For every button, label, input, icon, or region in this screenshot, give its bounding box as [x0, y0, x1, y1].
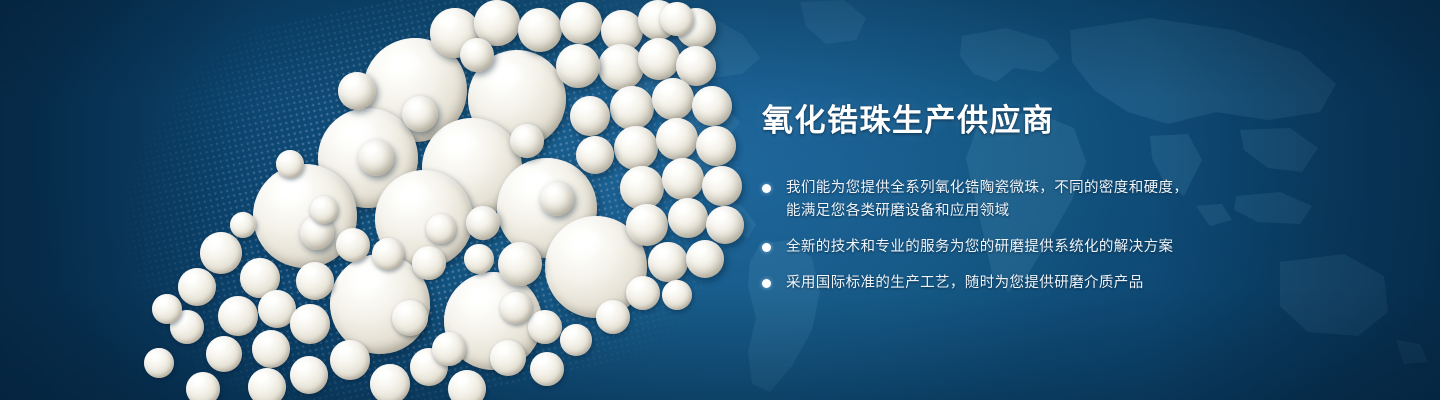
bullet-dot-icon	[762, 184, 771, 193]
feature-bullet-list: 我们能为您提供全系列氧化锆陶瓷微珠，不同的密度和硬度， 能满足您各类研磨设备和应…	[762, 177, 1362, 295]
feature-bullet-line-1: 全新的技术和专业的服务为您的研磨提供系统化的解决方案	[786, 239, 1173, 255]
feature-bullet-item: 采用国际标准的生产工艺，随时为您提供研磨介质产品	[762, 272, 1362, 295]
bullet-dot-icon	[762, 279, 771, 288]
feature-bullet-item: 我们能为您提供全系列氧化锆陶瓷微珠，不同的密度和硬度， 能满足您各类研磨设备和应…	[762, 177, 1362, 223]
hero-banner: 氧化锆珠生产供应商 我们能为您提供全系列氧化锆陶瓷微珠，不同的密度和硬度， 能满…	[0, 0, 1440, 400]
feature-bullet-line-1: 我们能为您提供全系列氧化锆陶瓷微珠，不同的密度和硬度，	[786, 180, 1188, 196]
feature-bullet-line-2: 能满足您各类研磨设备和应用领域	[786, 200, 1362, 223]
zirconia-beads-photo	[0, 0, 780, 400]
bullet-dot-icon	[762, 243, 771, 252]
feature-bullet-item: 全新的技术和专业的服务为您的研磨提供系统化的解决方案	[762, 236, 1362, 259]
banner-content: 氧化锆珠生产供应商 我们能为您提供全系列氧化锆陶瓷微珠，不同的密度和硬度， 能满…	[762, 104, 1362, 295]
banner-headline: 氧化锆珠生产供应商	[762, 104, 1362, 139]
feature-bullet-line-1: 采用国际标准的生产工艺，随时为您提供研磨介质产品	[786, 275, 1144, 291]
